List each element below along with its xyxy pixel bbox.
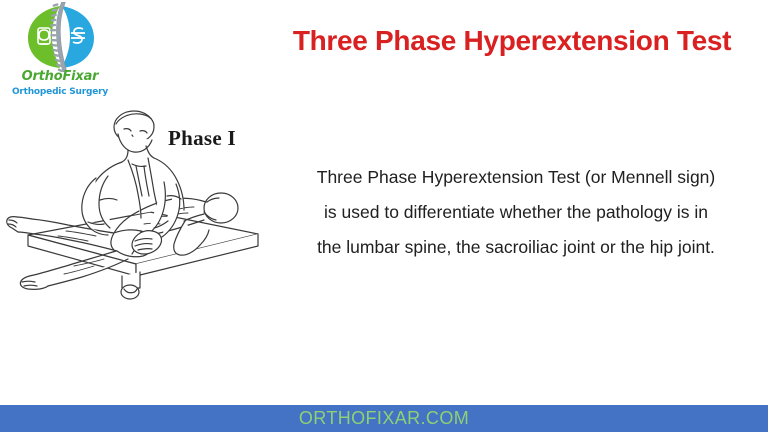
footer-website-label[interactable]: ORTHOFIXAR.COM — [299, 408, 469, 429]
logo-text: OrthoFixar Orthopedic Surgery — [8, 70, 112, 98]
description-text: Three Phase Hyperextension Test (or Menn… — [272, 160, 760, 265]
description-line: the lumbar spine, the sacroiliac joint o… — [272, 230, 760, 265]
orthofixar-logo[interactable]: OrthoFixar Orthopedic Surgery — [8, 2, 112, 100]
page-title: Three Phase Hyperextension Test — [262, 25, 762, 57]
slide-canvas: OrthoFixar Orthopedic Surgery Three Phas… — [0, 0, 768, 432]
logo-mark-icon — [16, 2, 104, 72]
footer-bar: ORTHOFIXAR.COM — [0, 405, 768, 432]
description-line: Three Phase Hyperextension Test (or Menn… — [272, 160, 760, 195]
logo-tagline: Orthopedic Surgery — [8, 86, 112, 98]
description-line: is used to differentiate whether the pat… — [272, 195, 760, 230]
phase-label: Phase I — [168, 126, 236, 151]
logo-brand-name: OrthoFixar — [8, 70, 112, 84]
